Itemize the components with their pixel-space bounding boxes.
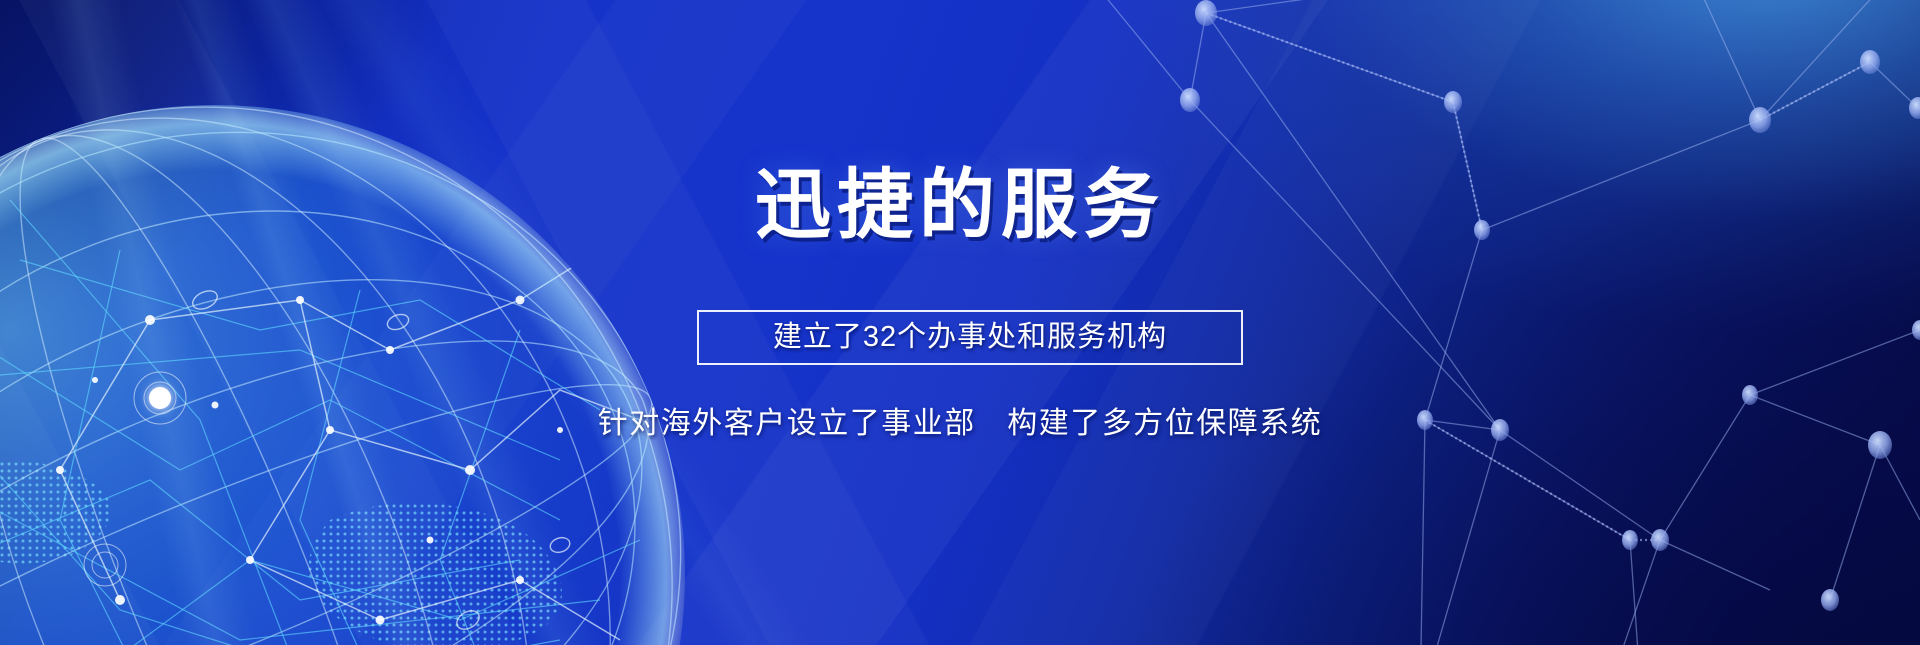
highlight-text: 建立了32个办事处和服务机构	[773, 323, 1167, 352]
page-title: 迅捷的服务	[0, 168, 1920, 244]
banner-content: 迅捷的服务 建立了32个办事处和服务机构 针对海外客户设立了事业部 构建了多方位…	[0, 0, 1920, 645]
tagline: 针对海外客户设立了事业部 构建了多方位保障系统	[0, 404, 1920, 445]
service-banner: 迅捷的服务 建立了32个办事处和服务机构 针对海外客户设立了事业部 构建了多方位…	[0, 0, 1920, 645]
highlight-box: 建立了32个办事处和服务机构	[697, 310, 1243, 365]
